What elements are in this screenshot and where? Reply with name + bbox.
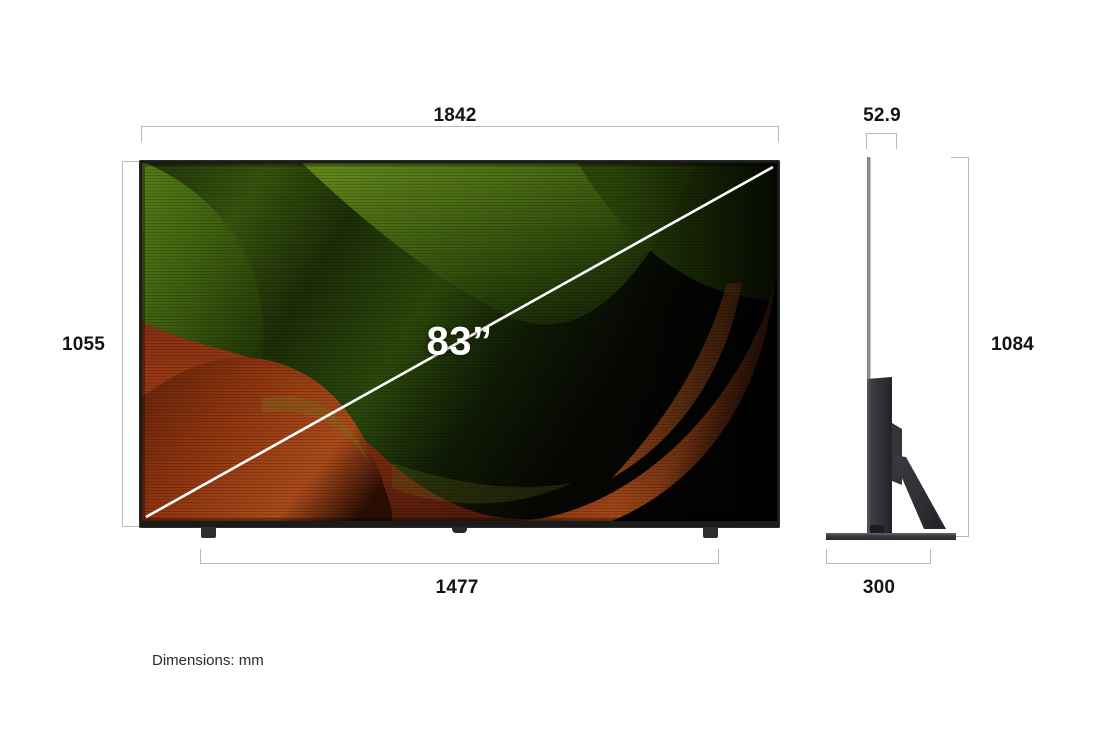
ir-sensor-nub bbox=[452, 527, 467, 533]
tv-screen: 83” bbox=[142, 163, 777, 521]
tv-front-view: 83” bbox=[139, 160, 780, 528]
unit-note: Dimensions: mm bbox=[152, 652, 264, 669]
side-stand-depth-bracket bbox=[826, 549, 931, 564]
front-stand-width-label: 1477 bbox=[435, 577, 478, 599]
front-height-label: 1055 bbox=[62, 334, 105, 356]
side-height-label: 1084 bbox=[991, 334, 1034, 356]
dimension-diagram: 1842 1055 bbox=[0, 0, 1100, 730]
side-depth-bracket bbox=[866, 133, 897, 149]
front-height-bracket bbox=[122, 161, 140, 527]
front-stand-width-bracket bbox=[200, 549, 719, 564]
tv-side-view bbox=[820, 155, 970, 545]
tv-foot-left bbox=[201, 527, 216, 538]
side-stand-depth-label: 300 bbox=[863, 577, 895, 599]
side-depth-label: 52.9 bbox=[863, 105, 901, 127]
front-width-label: 1842 bbox=[433, 105, 476, 127]
tv-foot-right bbox=[703, 527, 718, 538]
front-width-bracket bbox=[141, 126, 779, 142]
